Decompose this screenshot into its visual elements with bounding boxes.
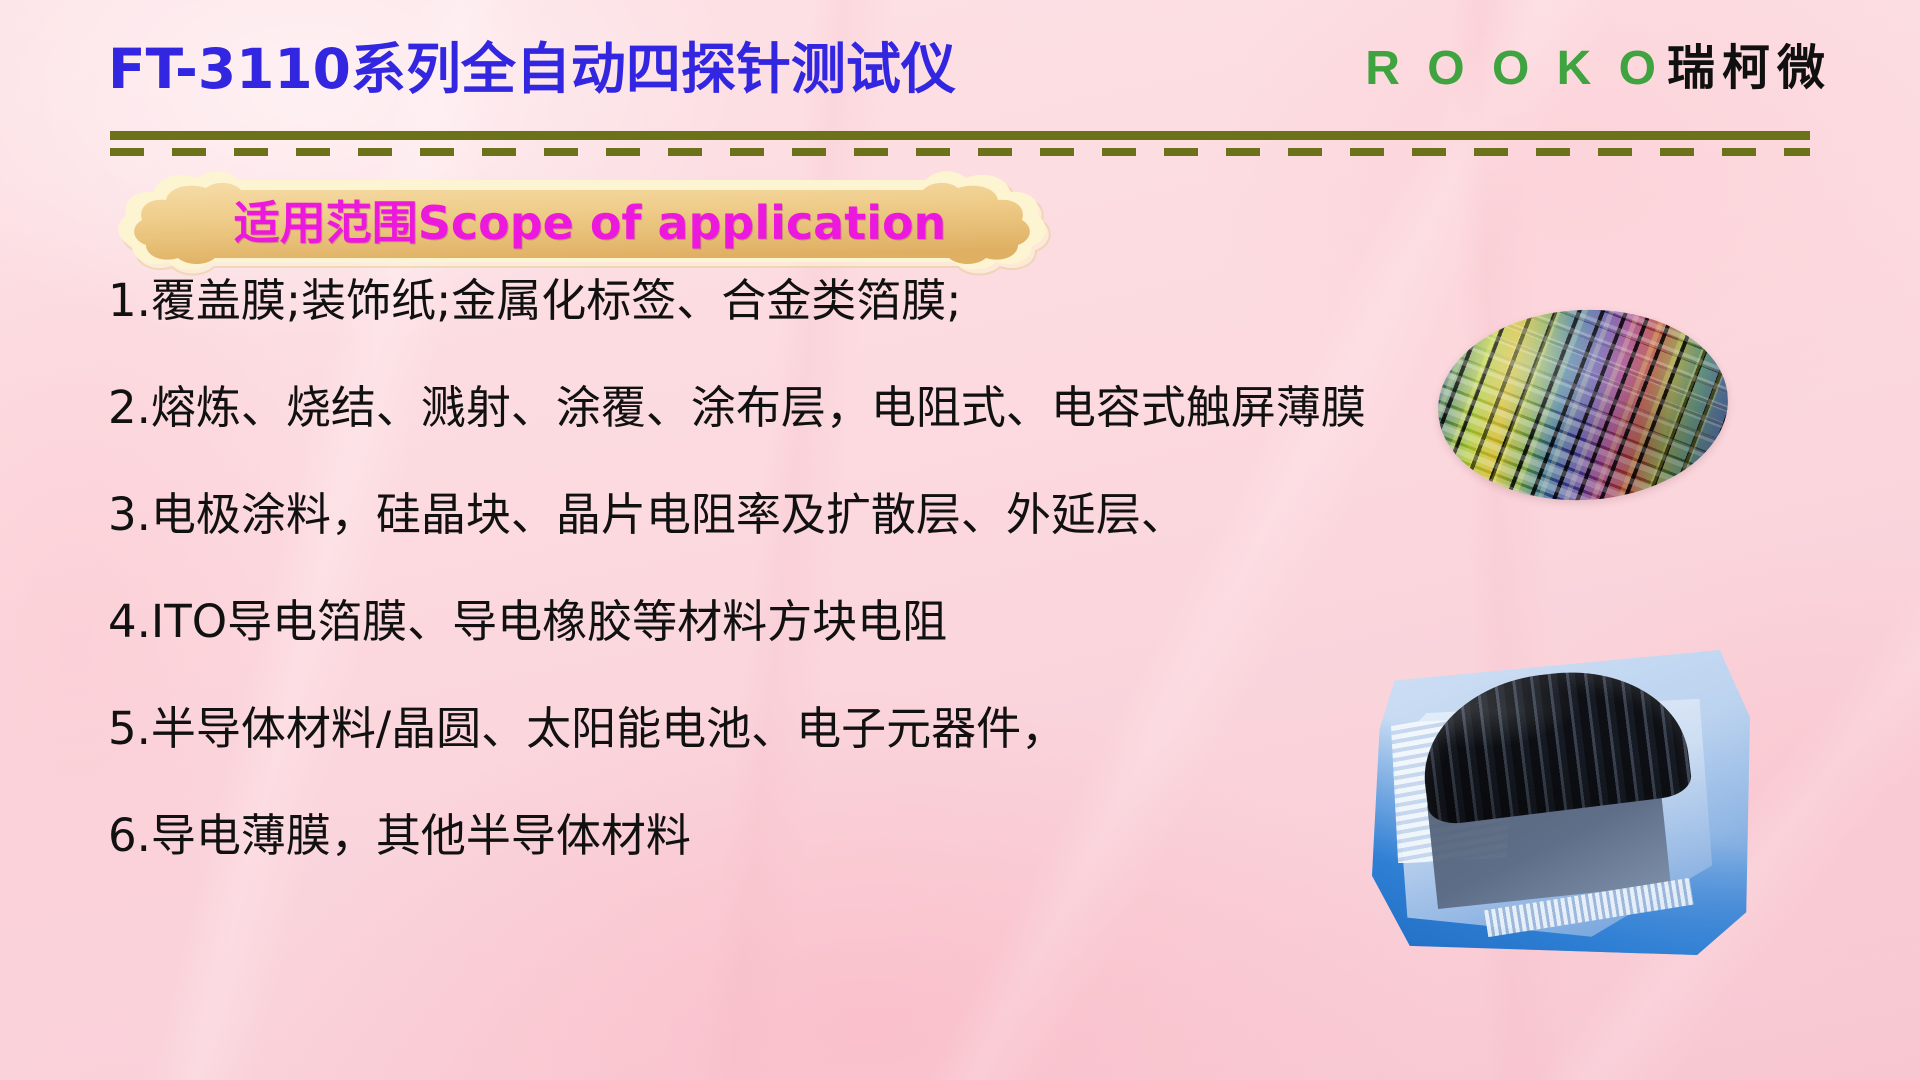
- list-item: 5.半导体材料/晶圆、太阳能电池、电子元器件，: [108, 706, 1398, 760]
- list-item: 6.导电薄膜，其他半导体材料: [108, 813, 1398, 867]
- list-item: 4.ITO导电箔膜、导电橡胶等材料方块电阻: [108, 599, 1398, 653]
- application-scope-list: 1.覆盖膜;装饰纸;金属化标签、合金类箔膜; 2.熔炼、烧结、溅射、涂覆、涂布层…: [108, 278, 1398, 920]
- list-item: 2.熔炼、烧结、溅射、涂覆、涂布层，电阻式、电容式触屏薄膜: [108, 385, 1398, 439]
- list-item: 3.电极涂料，硅晶块、晶片电阻率及扩散层、外延层、: [108, 492, 1398, 546]
- brand-logo: R O O K O 瑞柯微: [1365, 44, 1832, 93]
- silicon-wafer-photo: [1433, 303, 1733, 508]
- header-rule-dashed: [110, 148, 1810, 156]
- page-title: FT-3110系列全自动四探针测试仪: [108, 42, 956, 97]
- section-banner: 适用范围Scope of application: [112, 172, 1052, 268]
- slide-root: FT-3110系列全自动四探针测试仪 R O O K O 瑞柯微 适用范围Sco: [0, 0, 1920, 1080]
- brand-logo-chinese: 瑞柯微: [1667, 44, 1832, 92]
- list-item: 1.覆盖膜;装饰纸;金属化标签、合金类箔膜;: [108, 278, 1398, 332]
- wafer-gloss: [1433, 303, 1733, 508]
- header-rule-solid: [110, 131, 1810, 140]
- brand-logo-latin: R O O K O: [1365, 45, 1663, 93]
- section-banner-label: 适用范围Scope of application: [112, 172, 1052, 268]
- wafer-cassette-photo: [1372, 650, 1750, 955]
